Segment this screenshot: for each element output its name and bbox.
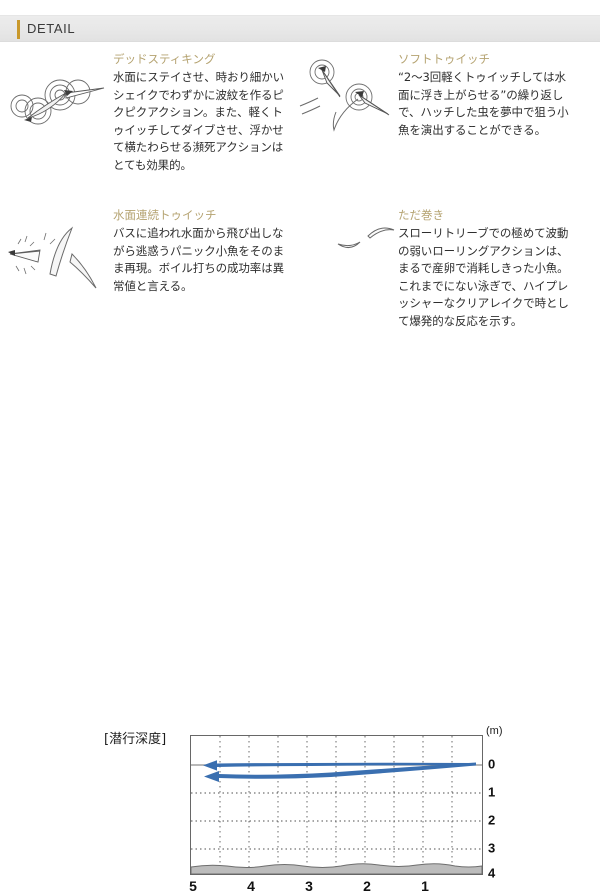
y-tick-1: 1	[488, 785, 495, 800]
feature-block-tada-maki: ただ巻き スローリトリーブでの極めて波動の弱いローリングアクションは、まるで産卵…	[398, 208, 578, 330]
detail-section-bar: DETAIL	[0, 15, 600, 42]
x-tick-1: 1	[421, 878, 429, 894]
y-tick-3: 3	[488, 841, 495, 856]
x-tick-3: 3	[305, 878, 313, 894]
feature-heading: 水面連続トゥイッチ	[113, 208, 293, 223]
feature-body: “2〜3回軽くトゥイッチしては水面に浮き上がらせる”の繰り返しで、ハッチした虫を…	[398, 69, 576, 139]
chart-unit-label: (m)	[486, 725, 503, 737]
lakebed-band	[191, 864, 482, 874]
y-tick-4: 4	[488, 866, 495, 881]
feature-heading: ただ巻き	[398, 208, 578, 223]
feature-body: バスに追われ水面から飛び出しながら逃惑うパニック小魚をそのまま再現。ボイル打ちの…	[113, 225, 293, 295]
chart-title: [潜行深度]	[104, 728, 166, 747]
accent-marker	[17, 20, 20, 39]
lure-jumping-splash-icon	[0, 214, 108, 306]
page-title: DETAIL	[27, 21, 75, 36]
lure-rolling-stroke-icon	[336, 214, 398, 260]
feature-heading: ソフトトゥイッチ	[398, 52, 576, 67]
x-tick-5: 5	[189, 878, 197, 894]
lure-ripple-icon	[2, 62, 107, 140]
feature-heading: デッドスティキング	[113, 52, 293, 67]
feature-block-soft-twitch: ソフトトゥイッチ “2〜3回軽くトゥイッチしては水面に浮き上がらせる”の繰り返し…	[398, 52, 576, 139]
diving-depth-chart: [潜行深度] (m)	[0, 360, 600, 548]
y-tick-2: 2	[488, 813, 495, 828]
feature-body: 水面にステイさせ、時おり細かいシェイクでわずかに波紋を作るピクピクアクション。ま…	[113, 69, 293, 174]
y-tick-0: 0	[488, 757, 495, 772]
x-tick-2: 2	[363, 878, 371, 894]
chart-plot-area	[190, 735, 483, 875]
feature-body: スローリトリーブでの極めて波動の弱いローリングアクションは、まるで産卵で消耗しき…	[398, 225, 578, 330]
feature-block-surface-continuous-twitch: 水面連続トゥイッチ バスに追われ水面から飛び出しながら逃惑うパニック小魚をそのま…	[113, 208, 293, 295]
chart-svg	[191, 736, 482, 874]
feature-block-dead-sticking: デッドスティキング 水面にステイさせ、時おり細かいシェイクでわずかに波紋を作るピ…	[113, 52, 293, 174]
lure-diagonal-ripple-icon	[296, 50, 396, 160]
x-tick-4: 4	[247, 878, 255, 894]
